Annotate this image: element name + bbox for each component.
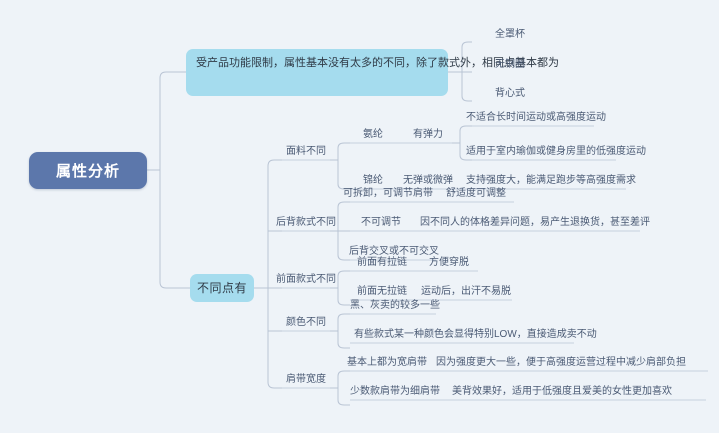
leaf-label: 无钢圈: [495, 58, 525, 72]
note-label: 适用于室内瑜伽或健身房里的低强度运动: [466, 145, 646, 159]
category-back-style[interactable]: 后背款式不同: [276, 216, 336, 232]
leaf-label: 全罩杯: [495, 28, 525, 42]
branch-node-common-points[interactable]: 受产品功能限制，属性基本没有太多的不同，除了款式外，相同点基本都为: [186, 49, 448, 96]
row-front-zip-attr[interactable]: 方便穿脱: [420, 256, 478, 272]
row-label: 美背效果好，适用于低强度且爱美的女性更加喜欢: [452, 385, 672, 399]
row-nonadjustable-name[interactable]: 不可调节: [352, 216, 410, 232]
row-label: 基本上都为宽肩带: [347, 356, 427, 370]
category-strap-width[interactable]: 肩带宽度: [282, 373, 330, 389]
row-front-zip-name[interactable]: 前面有拉链: [352, 256, 412, 272]
row-color-popular[interactable]: 黑、灰卖的较多一些: [352, 299, 438, 315]
row-label: 可拆卸，可调节肩带: [343, 187, 433, 201]
leaf-full-cup[interactable]: 全罩杯: [472, 28, 548, 44]
category-label: 后背款式不同: [276, 216, 336, 230]
category-front-style[interactable]: 前面款式不同: [276, 273, 336, 289]
category-label: 面料不同: [286, 145, 326, 159]
branch-node-differences[interactable]: 不同点有: [190, 274, 254, 302]
note-spandex-1[interactable]: 不适合长时间运动或高强度运动: [466, 111, 596, 127]
note-spandex-2[interactable]: 适用于室内瑜伽或健身房里的低强度运动: [466, 145, 620, 161]
row-wide-strap-name[interactable]: 基本上都为宽肩带: [350, 356, 424, 372]
row-label: 舒适度可调整: [446, 187, 506, 201]
leaf-vest-style[interactable]: 背心式: [472, 87, 548, 103]
category-label: 肩带宽度: [286, 373, 326, 387]
row-label: 氨纶: [363, 128, 383, 142]
row-label: 锦纶: [363, 174, 383, 188]
row-nonadjustable-attr[interactable]: 因不同人的体格差异问题，易产生退换货，甚至差评: [420, 216, 642, 232]
mindmap-canvas: 属性分析 受产品功能限制，属性基本没有太多的不同，除了款式外，相同点基本都为 全…: [0, 0, 719, 433]
row-label: 有些款式某一种颜色会显得特别LOW，直接造成卖不动: [354, 328, 597, 342]
row-label: 方便穿脱: [429, 256, 469, 270]
category-fabric[interactable]: 面料不同: [282, 145, 330, 161]
row-label: 前面无拉链: [357, 285, 407, 299]
row-thin-strap-name[interactable]: 少数款肩带为细肩带: [350, 385, 440, 401]
category-color[interactable]: 颜色不同: [282, 316, 330, 332]
row-label: 因不同人的体格差异问题，易产生退换货，甚至差评: [420, 216, 650, 230]
leaf-no-underwire[interactable]: 无钢圈: [472, 58, 548, 74]
row-label: 少数款肩带为细肩带: [350, 385, 440, 399]
row-label: 前面有拉链: [357, 256, 407, 270]
row-label: 因为强度更大一些，便于高强度运营过程中减少肩部负担: [436, 356, 686, 370]
category-label: 颜色不同: [286, 316, 326, 330]
row-thin-strap-attr[interactable]: 美背效果好，适用于低强度且爱美的女性更加喜欢: [452, 385, 706, 401]
root-node[interactable]: 属性分析: [29, 152, 147, 189]
root-label: 属性分析: [56, 160, 120, 181]
row-label: 黑、灰卖的较多一些: [350, 299, 440, 313]
row-label: 有弹力: [413, 128, 443, 142]
row-spandex-attr[interactable]: 有弹力: [404, 128, 452, 144]
note-label: 支持强度大，能满足跑步等高强度需求: [466, 174, 636, 188]
note-label: 不适合长时间运动或高强度运动: [466, 111, 606, 125]
leaf-label: 背心式: [495, 87, 525, 101]
branch-label-differences: 不同点有: [197, 280, 247, 297]
row-label: 不可调节: [361, 216, 401, 230]
row-color-bad[interactable]: 有些款式某一种颜色会显得特别LOW，直接造成卖不动: [354, 328, 578, 344]
row-wide-strap-attr[interactable]: 因为强度更大一些，便于高强度运营过程中减少肩部负担: [436, 356, 708, 372]
row-detachable-name[interactable]: 可拆卸，可调节肩带: [350, 187, 426, 203]
row-label: 运动后，出汗不易脱: [421, 285, 511, 299]
row-label: 无弹或微弹: [403, 174, 453, 188]
row-spandex-name[interactable]: 氨纶: [350, 128, 396, 144]
category-label: 前面款式不同: [276, 273, 336, 287]
row-detachable-attr[interactable]: 舒适度可调整: [434, 187, 518, 203]
